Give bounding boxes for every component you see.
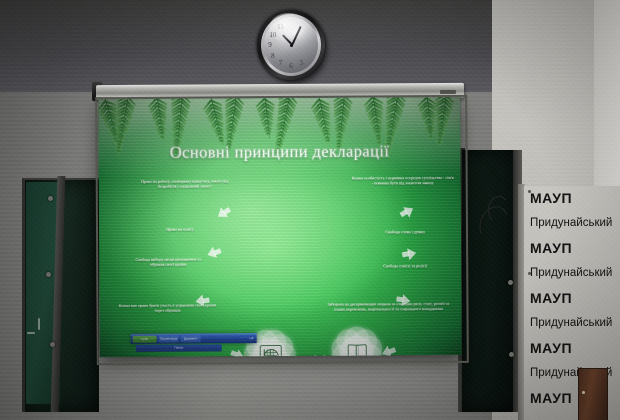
board-clip xyxy=(46,272,51,277)
classroom-photo: 567891011 Основні принципи декларації xyxy=(0,0,620,420)
board-clip xyxy=(508,280,513,285)
slide-vignette xyxy=(98,97,462,357)
projection-screen: Основні принципи декларації xyxy=(98,97,462,357)
board-clip xyxy=(50,342,55,347)
banner-line: МАУП xyxy=(524,336,620,361)
banner-line: Придунайський xyxy=(524,311,620,336)
banner-pin xyxy=(528,272,531,275)
clock-numeral: 8 xyxy=(268,51,278,61)
door-knob[interactable] xyxy=(582,391,585,394)
chalk-mark xyxy=(27,332,35,334)
board-clip xyxy=(48,196,53,201)
banner-line: МАУП xyxy=(524,236,620,261)
clock-glass-glare xyxy=(269,13,309,43)
board-clip xyxy=(509,352,514,357)
clock-center-pin xyxy=(290,44,293,47)
banner-pin xyxy=(528,190,531,193)
banner-line: МАУП xyxy=(524,186,620,211)
banner-line: МАУП xyxy=(524,286,620,311)
door[interactable] xyxy=(578,368,608,420)
clock-numeral: 6 xyxy=(286,61,296,71)
chalk-mark xyxy=(38,318,40,330)
banner-line: Придунайський xyxy=(524,211,620,236)
clock-numeral: 5 xyxy=(297,58,307,68)
housing-brand-label xyxy=(440,90,456,94)
wall-clock: 567891011 xyxy=(257,10,329,86)
clock-numeral: 9 xyxy=(265,40,275,50)
banner-line: Придунайський xyxy=(524,261,620,286)
